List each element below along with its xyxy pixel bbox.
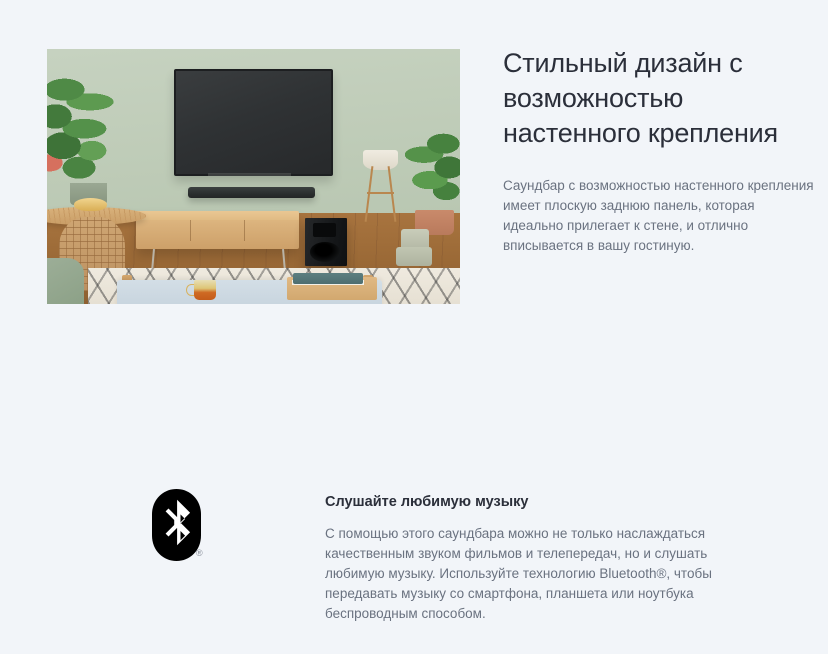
- hero-copy: Стильный дизайн с возможностью настенног…: [503, 46, 815, 256]
- bluetooth-icon: ®: [152, 489, 201, 561]
- bluetooth-title: Слушайте любимую музыку: [325, 492, 762, 512]
- vase-lower: [396, 247, 432, 266]
- hero-body-text: Саундбар с возможностью настенного крепл…: [503, 176, 815, 256]
- hero-image: [47, 49, 460, 304]
- television: [174, 69, 333, 176]
- notebook: [293, 273, 363, 283]
- sofa: [47, 258, 84, 304]
- television-mount: [208, 173, 291, 176]
- registered-trademark-icon: ®: [196, 549, 203, 558]
- plant-left: [47, 75, 130, 197]
- living-room-scene: [47, 49, 460, 304]
- subwoofer-driver: [310, 242, 341, 262]
- bluetooth-section: ® Слушайте любимую музыку С помощью этог…: [0, 470, 828, 654]
- bluetooth-body-text: С помощью этого саундбара можно не тольк…: [325, 524, 762, 624]
- tv-console-top: [136, 211, 299, 220]
- hero-section: Стильный дизайн с возможностью настенног…: [0, 0, 828, 330]
- glass-bowl: [74, 198, 107, 211]
- soundbar: [188, 187, 315, 198]
- subwoofer-port: [313, 223, 335, 237]
- bluetooth-copy: Слушайте любимую музыку С помощью этого …: [325, 492, 762, 624]
- plant-right: [390, 131, 460, 223]
- glass-mug: [194, 280, 216, 300]
- hero-title: Стильный дизайн с возможностью настенног…: [503, 46, 815, 151]
